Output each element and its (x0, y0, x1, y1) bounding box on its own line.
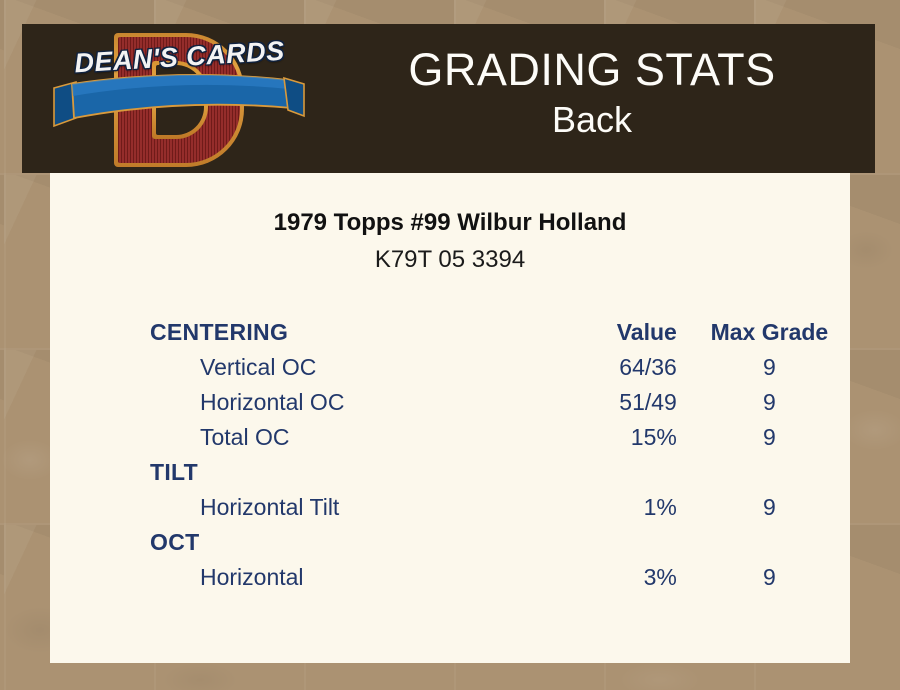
row-max-grade: 9 (699, 560, 840, 595)
table-header-row: CENTERING Value Max Grade (150, 315, 840, 350)
row-label: Total OC (150, 420, 520, 455)
table-row: Horizontal 3% 9 (150, 560, 840, 595)
section-header-row: TILT (150, 455, 840, 490)
section-header-row: OCT (150, 525, 840, 560)
table-row: Vertical OC 64/36 9 (150, 350, 840, 385)
table-row: Total OC 15% 9 (150, 420, 840, 455)
row-max-grade: 9 (699, 490, 840, 525)
section-header-tilt: TILT (150, 455, 520, 490)
row-max-grade: 9 (699, 350, 840, 385)
logo-ribbon-icon (52, 72, 307, 130)
section-spacer-value (520, 525, 699, 560)
row-value: 64/36 (520, 350, 699, 385)
section-header-oct: OCT (150, 525, 520, 560)
row-max-grade: 9 (699, 385, 840, 420)
section-spacer-grade (699, 455, 840, 490)
row-max-grade: 9 (699, 420, 840, 455)
section-spacer-grade (699, 525, 840, 560)
row-value: 51/49 (520, 385, 699, 420)
page-title: GRADING STATS (322, 46, 862, 93)
content-card: 1979 Topps #99 Wilbur Holland K79T 05 33… (50, 173, 850, 663)
row-label: Horizontal Tilt (150, 490, 520, 525)
row-label: Horizontal OC (150, 385, 520, 420)
card-title: 1979 Topps #99 Wilbur Holland (50, 209, 850, 237)
grading-stats-table: CENTERING Value Max Grade Vertical OC 64… (150, 315, 840, 595)
row-label: Horizontal (150, 560, 520, 595)
section-spacer-value (520, 455, 699, 490)
row-value: 15% (520, 420, 699, 455)
grading-stats-page: DEAN'S CARDS GRADING STATS Back 1979 Top… (0, 0, 900, 690)
page-subtitle: Back (322, 101, 862, 139)
section-header-centering: CENTERING (150, 315, 520, 350)
column-header-value: Value (520, 315, 699, 350)
header-band: DEAN'S CARDS GRADING STATS Back (22, 24, 875, 173)
card-serial-number: K79T 05 3394 (50, 246, 850, 274)
row-value: 3% (520, 560, 699, 595)
row-label: Vertical OC (150, 350, 520, 385)
column-header-max-grade: Max Grade (699, 315, 840, 350)
deans-cards-logo[interactable]: DEAN'S CARDS (52, 28, 307, 170)
row-value: 1% (520, 490, 699, 525)
table-row: Horizontal OC 51/49 9 (150, 385, 840, 420)
header-title-block: GRADING STATS Back (322, 46, 862, 139)
table-row: Horizontal Tilt 1% 9 (150, 490, 840, 525)
